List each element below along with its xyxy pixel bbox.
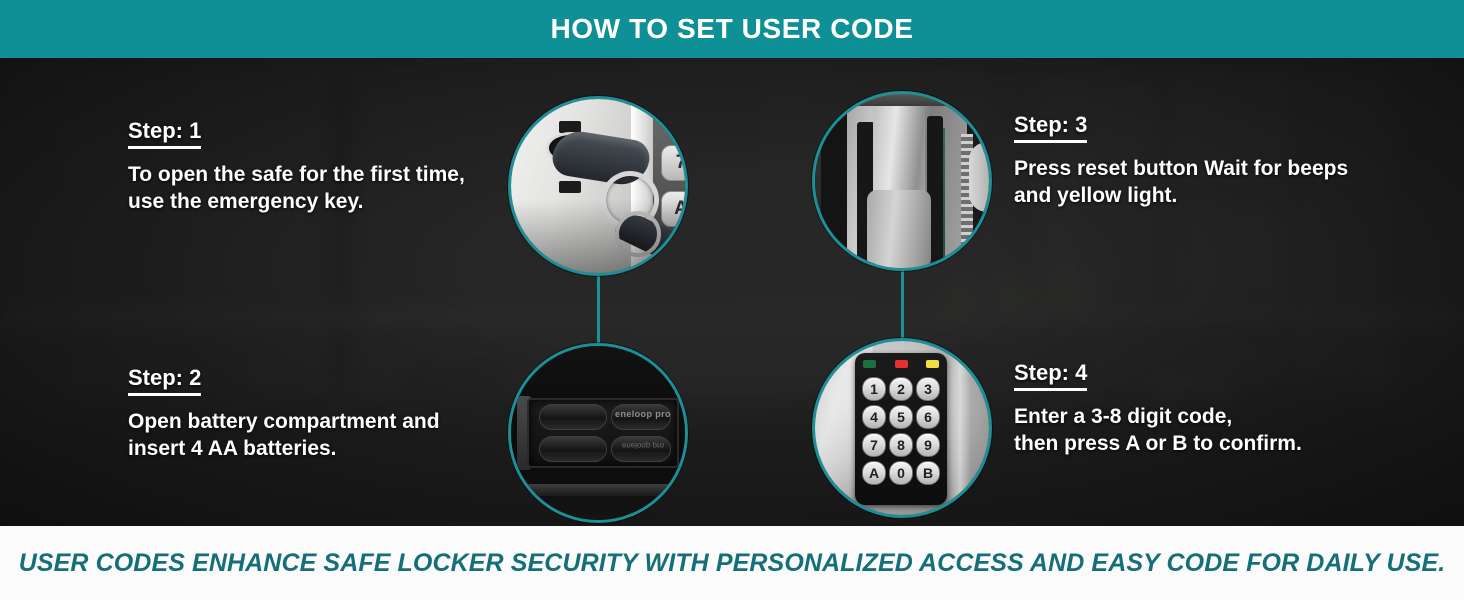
- photo-keypad-body: 1 2 3 4 5 6 7 8 9 A 0 B: [855, 353, 947, 505]
- green-led: [863, 360, 876, 368]
- step-4-photo-circle: 1 2 3 4 5 6 7 8 9 A 0 B: [812, 338, 992, 518]
- yellow-led: [926, 360, 939, 368]
- step-4-label: Step: 4: [1014, 360, 1087, 391]
- step-1-label: Step: 1: [128, 118, 201, 149]
- step-2-block: Step: 2 Open battery compartment and ins…: [128, 365, 508, 463]
- keypad-key-5[interactable]: 5: [889, 405, 913, 429]
- step-4-text: Enter a 3-8 digit code, then press A or …: [1014, 403, 1414, 458]
- emergency-key-in-lock-photo: 7 A: [511, 99, 685, 273]
- keypad-led-row: [863, 360, 939, 370]
- photo-reset-plunger-head: [867, 190, 931, 271]
- red-led: [895, 360, 908, 368]
- photo-compartment-ledge: [508, 484, 688, 496]
- infographic-page: HOW TO SET USER CODE: [0, 0, 1464, 600]
- step-4-block: Step: 4 Enter a 3-8 digit code, then pre…: [1014, 360, 1414, 458]
- keypad-key-0[interactable]: 0: [889, 461, 913, 485]
- step-2-label: Step: 2: [128, 365, 201, 396]
- photo-reset-metal-plate: [969, 142, 992, 212]
- keypad-key-7[interactable]: 7: [862, 433, 886, 457]
- keypad-key-4[interactable]: 4: [862, 405, 886, 429]
- reset-button-photo: [815, 94, 989, 268]
- step-1-photo-circle: 7 A: [508, 96, 688, 276]
- step-2-text: Open battery compartment and insert 4 AA…: [128, 408, 508, 463]
- photo-shading-overlay: [511, 99, 685, 273]
- footer-bar: USER CODES ENHANCE SAFE LOCKER SECURITY …: [0, 526, 1464, 600]
- photo-battery-3: [539, 436, 607, 462]
- photo-reset-top-bracket: [849, 91, 969, 106]
- keypad-photo: 1 2 3 4 5 6 7 8 9 A 0 B: [815, 341, 989, 515]
- step-2-photo-circle: eneloop pro eneloop pro: [508, 343, 688, 523]
- content-layer: Step: 1 To open the safe for the first t…: [0, 0, 1464, 600]
- keypad-key-8[interactable]: 8: [889, 433, 913, 457]
- battery-compartment-photo: eneloop pro eneloop pro: [511, 346, 685, 520]
- footer-tagline: USER CODES ENHANCE SAFE LOCKER SECURITY …: [19, 549, 1446, 578]
- step-1-text: To open the safe for the first time, use…: [128, 161, 508, 216]
- keypad-key-a[interactable]: A: [862, 461, 886, 485]
- keypad-key-9[interactable]: 9: [916, 433, 940, 457]
- connector-line-left: [597, 274, 600, 344]
- keypad-key-6[interactable]: 6: [916, 405, 940, 429]
- step-1-block: Step: 1 To open the safe for the first t…: [128, 118, 508, 216]
- keypad-key-2[interactable]: 2: [889, 377, 913, 401]
- photo-battery-brand-label: eneloop pro: [615, 409, 671, 419]
- photo-battery-tray: eneloop pro eneloop pro: [527, 398, 679, 468]
- photo-keypad-sheen-right: [949, 338, 971, 518]
- step-3-photo-circle: [812, 91, 992, 271]
- step-3-label: Step: 3: [1014, 112, 1087, 143]
- keypad-key-3[interactable]: 3: [916, 377, 940, 401]
- keypad-key-b[interactable]: B: [916, 461, 940, 485]
- photo-reset-shadow-left: [821, 91, 847, 271]
- photo-battery-brand-label-mirrored: eneloop pro: [615, 441, 671, 450]
- step-3-text: Press reset button Wait for beeps and ye…: [1014, 155, 1414, 210]
- connector-line-right: [901, 269, 904, 339]
- keypad-key-grid: 1 2 3 4 5 6 7 8 9 A 0 B: [862, 377, 940, 485]
- photo-battery-1: [539, 404, 607, 430]
- keypad-key-1[interactable]: 1: [862, 377, 886, 401]
- step-3-block: Step: 3 Press reset button Wait for beep…: [1014, 112, 1414, 210]
